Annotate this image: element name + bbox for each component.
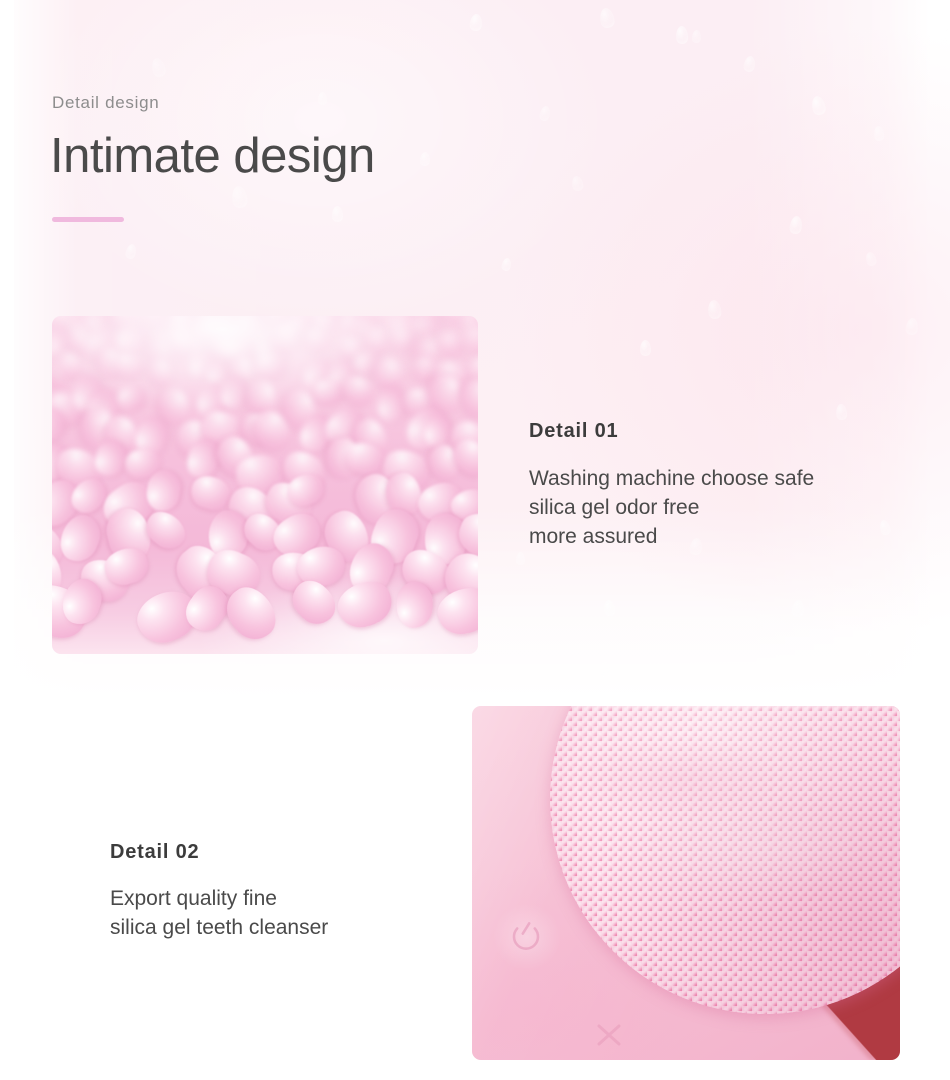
silica-granule <box>396 581 434 628</box>
cross-icon <box>592 1018 626 1052</box>
title-accent-bar <box>52 217 124 222</box>
water-droplet <box>150 57 167 79</box>
water-droplet <box>864 251 877 267</box>
water-droplet <box>598 7 615 29</box>
section-eyebrow: Detail design <box>52 93 159 113</box>
water-droplet <box>318 92 327 105</box>
water-droplet <box>571 175 585 192</box>
detail-01-body: Washing machine choose safe silica gel o… <box>529 464 814 551</box>
water-droplet <box>603 599 616 616</box>
water-droplet <box>516 552 525 565</box>
detail-01-title: Detail 01 <box>529 420 618 443</box>
water-droplet <box>640 340 651 356</box>
silica-granule <box>375 386 407 424</box>
water-droplet <box>124 243 137 260</box>
silica-granule <box>142 316 173 328</box>
water-droplet <box>332 206 343 222</box>
silicone-bristle-head <box>550 706 900 1014</box>
water-droplet <box>707 299 722 319</box>
water-droplet <box>873 126 884 142</box>
detail-02-image <box>472 706 900 1060</box>
water-droplet <box>538 105 551 122</box>
silica-granule <box>220 376 247 410</box>
silica-granule <box>332 575 398 634</box>
silica-granule <box>434 330 468 360</box>
water-droplet <box>231 185 249 209</box>
water-droplet <box>419 152 430 167</box>
detail-02-title: Detail 02 <box>110 841 199 864</box>
water-droplet <box>940 28 950 45</box>
water-droplet <box>791 599 805 618</box>
water-droplet <box>864 647 877 663</box>
water-droplet <box>599 661 612 677</box>
detail-01-image <box>52 316 478 654</box>
silica-granule <box>312 378 345 406</box>
water-droplet <box>905 317 919 335</box>
water-droplet <box>789 215 804 235</box>
product-detail-page: Detail design Intimate design Detail 01 … <box>0 0 950 1080</box>
water-droplet <box>810 95 827 116</box>
water-droplet <box>878 519 891 536</box>
detail-02-body: Export quality fine silica gel teeth cle… <box>110 884 328 942</box>
water-droplet <box>743 55 757 73</box>
page-title: Intimate design <box>50 128 375 184</box>
water-droplet <box>692 30 702 44</box>
water-droplet <box>469 13 483 31</box>
water-droplet <box>835 404 847 421</box>
silica-granule <box>254 352 288 380</box>
power-icon <box>508 918 544 954</box>
water-droplet <box>676 26 689 45</box>
water-droplet <box>501 257 513 272</box>
